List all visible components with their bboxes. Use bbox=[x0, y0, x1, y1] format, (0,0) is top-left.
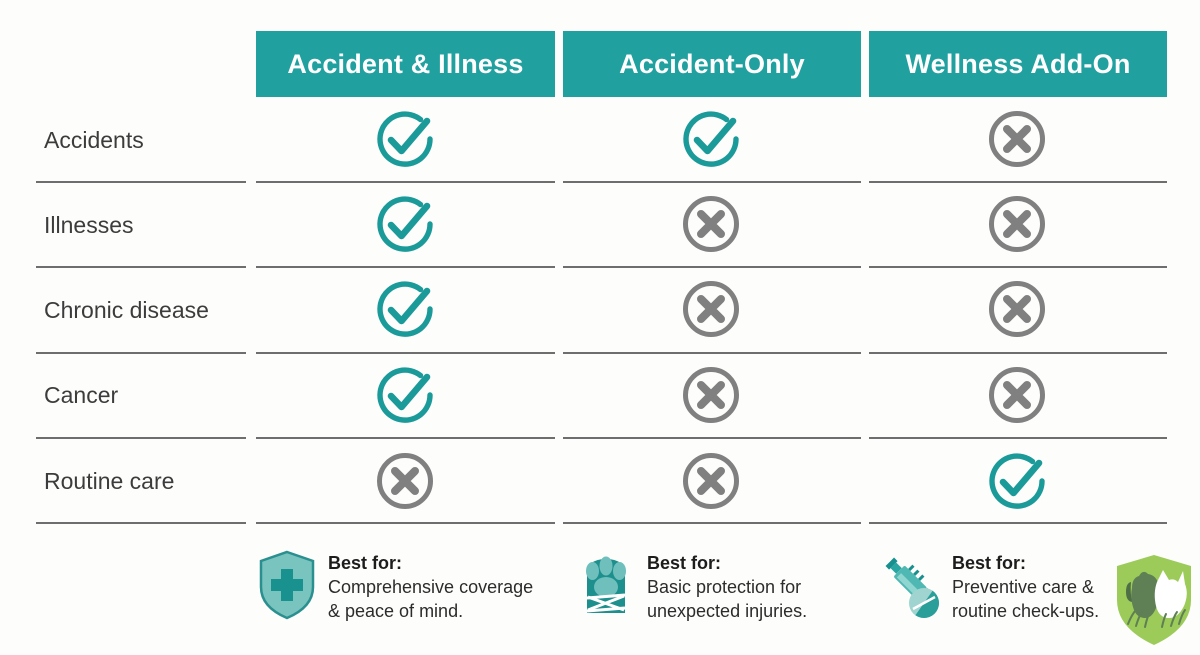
row-divider bbox=[256, 437, 555, 439]
row-divider bbox=[869, 181, 1167, 183]
bandaged-paw-icon bbox=[575, 549, 637, 621]
best-for-text: Best for: Preventive care & routine chec… bbox=[952, 549, 1099, 623]
row-divider bbox=[869, 266, 1167, 268]
cross-circle-icon bbox=[986, 364, 1048, 426]
row-divider bbox=[869, 437, 1167, 439]
column-header-accident-only: Accident-Only bbox=[563, 31, 861, 97]
cross-circle-icon bbox=[986, 108, 1048, 170]
column-header-label: Accident-Only bbox=[619, 49, 805, 80]
row-divider bbox=[36, 522, 246, 524]
row-label-routine-care: Routine care bbox=[44, 468, 254, 495]
row-divider bbox=[256, 522, 555, 524]
row-divider bbox=[563, 352, 861, 354]
cross-circle-icon bbox=[680, 450, 742, 512]
row-divider bbox=[36, 266, 246, 268]
best-for-block-accident-illness: Best for: Comprehensive coverage & peace… bbox=[256, 549, 533, 623]
cross-circle-icon bbox=[680, 193, 742, 255]
row-label-accidents: Accidents bbox=[44, 127, 254, 154]
best-for-desc: Basic protection for unexpected injuries… bbox=[647, 575, 807, 623]
row-divider bbox=[563, 522, 861, 524]
cross-circle-icon bbox=[374, 450, 436, 512]
best-for-desc: Preventive care & routine check-ups. bbox=[952, 575, 1099, 623]
column-header-wellness-add-on: Wellness Add-On bbox=[869, 31, 1167, 97]
row-divider bbox=[256, 181, 555, 183]
shield-cross-icon bbox=[256, 549, 318, 621]
row-label-illnesses: Illnesses bbox=[44, 212, 254, 239]
check-circle-icon bbox=[374, 278, 436, 340]
row-divider bbox=[869, 352, 1167, 354]
comparison-table-infographic: Accident & Illness Accident-Only Wellnes… bbox=[0, 0, 1200, 655]
cross-circle-icon bbox=[986, 278, 1048, 340]
column-header-label: Wellness Add-On bbox=[905, 49, 1130, 80]
cross-circle-icon bbox=[680, 278, 742, 340]
column-header-label: Accident & Illness bbox=[287, 49, 523, 80]
row-divider bbox=[36, 437, 246, 439]
row-divider bbox=[563, 266, 861, 268]
row-label-chronic-disease: Chronic disease bbox=[44, 297, 254, 324]
cross-circle-icon bbox=[986, 193, 1048, 255]
check-circle-icon bbox=[374, 364, 436, 426]
best-for-title: Best for: bbox=[328, 552, 533, 575]
column-header-accident-illness: Accident & Illness bbox=[256, 31, 555, 97]
check-circle-icon bbox=[374, 193, 436, 255]
row-divider bbox=[36, 181, 246, 183]
pet-shield-logo bbox=[1112, 552, 1196, 648]
row-divider bbox=[256, 352, 555, 354]
syringe-pill-icon bbox=[880, 549, 942, 621]
best-for-text: Best for: Comprehensive coverage & peace… bbox=[328, 549, 533, 623]
row-divider bbox=[869, 522, 1167, 524]
row-divider bbox=[563, 437, 861, 439]
best-for-desc: Comprehensive coverage & peace of mind. bbox=[328, 575, 533, 623]
check-circle-icon bbox=[374, 108, 436, 170]
check-circle-icon bbox=[986, 450, 1048, 512]
best-for-text: Best for: Basic protection for unexpecte… bbox=[647, 549, 807, 623]
best-for-block-accident-only: Best for: Basic protection for unexpecte… bbox=[575, 549, 807, 623]
row-divider bbox=[256, 266, 555, 268]
check-circle-icon bbox=[680, 108, 742, 170]
best-for-title: Best for: bbox=[952, 552, 1099, 575]
cross-circle-icon bbox=[680, 364, 742, 426]
best-for-title: Best for: bbox=[647, 552, 807, 575]
best-for-block-wellness-add-on: Best for: Preventive care & routine chec… bbox=[880, 549, 1099, 623]
row-divider bbox=[563, 181, 861, 183]
row-divider bbox=[36, 352, 246, 354]
row-label-cancer: Cancer bbox=[44, 382, 254, 409]
